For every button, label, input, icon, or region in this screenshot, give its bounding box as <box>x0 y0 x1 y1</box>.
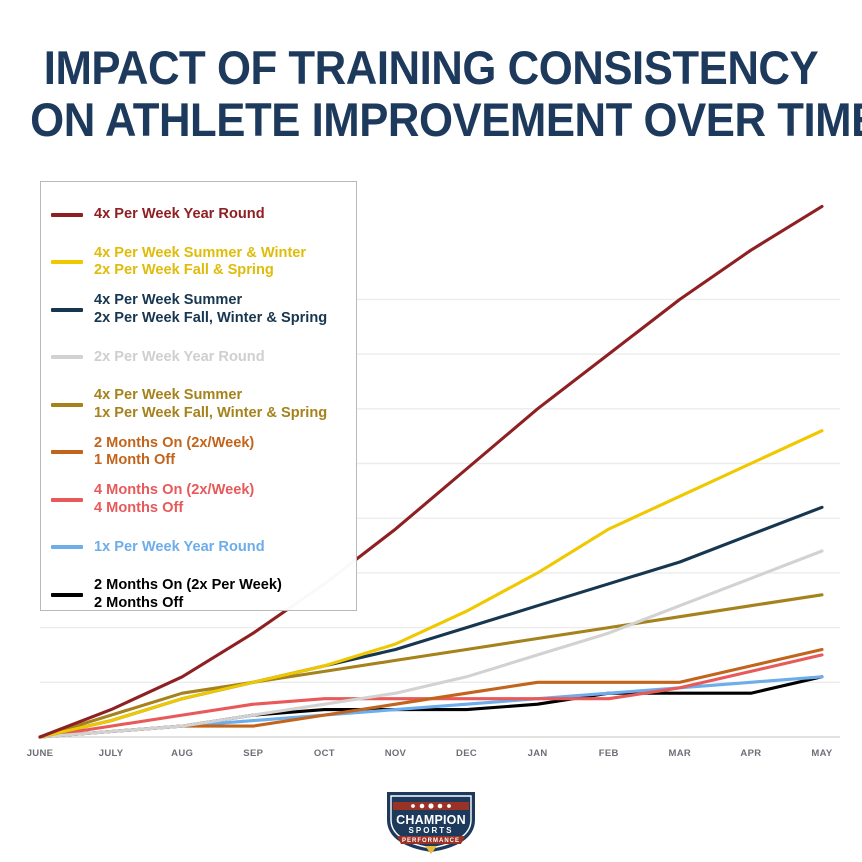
legend-item[interactable]: 4x Per Week Year Round <box>41 191 356 239</box>
x-axis-tick-label: JAN <box>528 748 548 759</box>
champion-sports-performance-logo: CHAMPION SPORTS PERFORMANCE <box>377 786 485 856</box>
legend-color-swatch <box>51 308 83 312</box>
legend-label-group: 4x Per Week Year Round <box>94 206 265 224</box>
legend-label-group: 4x Per Week Summer1x Per Week Fall, Wint… <box>94 387 327 422</box>
legend-color-swatch <box>51 355 83 359</box>
legend-color-swatch <box>51 545 83 549</box>
legend-label-line: 1x Per Week Fall, Winter & Spring <box>94 405 327 423</box>
legend-label-group: 4x Per Week Summer2x Per Week Fall, Wint… <box>94 292 327 327</box>
legend-label-line: 4 Months On (2x/Week) <box>94 482 254 500</box>
legend-item[interactable]: 4x Per Week Summer & Winter2x Per Week F… <box>41 239 356 287</box>
x-axis-tick-label: FEB <box>599 748 619 759</box>
legend-label-group: 4 Months On (2x/Week)4 Months Off <box>94 482 254 517</box>
logo-word-performance: PERFORMANCE <box>402 838 460 844</box>
x-axis-tick-label: MAY <box>811 748 832 759</box>
legend-label-group: 4x Per Week Summer & Winter2x Per Week F… <box>94 245 306 280</box>
title-line-1: IMPACT OF TRAINING CONSISTENCY <box>30 42 832 94</box>
legend-item[interactable]: 2x Per Week Year Round <box>41 334 356 382</box>
x-axis-tick-label: DEC <box>456 748 477 759</box>
x-axis-tick-label: SEP <box>243 748 263 759</box>
legend-label-line: 4x Per Week Summer <box>94 387 327 405</box>
x-axis-tick-label: JUNE <box>27 748 54 759</box>
legend-label-line: 1 Month Off <box>94 452 254 470</box>
legend-color-swatch <box>51 593 83 597</box>
legend-item[interactable]: 2 Months On (2x Per Week)2 Months Off <box>41 571 356 619</box>
legend-color-swatch <box>51 260 83 264</box>
legend-label-line: 2x Per Week Fall, Winter & Spring <box>94 310 327 328</box>
series-line <box>40 655 822 737</box>
logo-svg: CHAMPION SPORTS PERFORMANCE <box>377 786 485 856</box>
x-axis-tick-label: OCT <box>314 748 335 759</box>
legend-label-group: 2 Months On (2x Per Week)2 Months Off <box>94 577 282 612</box>
legend-label-line: 4x Per Week Year Round <box>94 206 265 224</box>
legend-label-group: 1x Per Week Year Round <box>94 539 265 557</box>
legend-item[interactable]: 2 Months On (2x/Week)1 Month Off <box>41 429 356 477</box>
legend-color-swatch <box>51 403 83 407</box>
legend-color-swatch <box>51 498 83 502</box>
legend-label-line: 2x Per Week Year Round <box>94 349 265 367</box>
legend-item[interactable]: 4 Months On (2x/Week)4 Months Off <box>41 476 356 524</box>
chart-legend[interactable]: 4x Per Week Year Round4x Per Week Summer… <box>40 181 357 611</box>
legend-item[interactable]: 1x Per Week Year Round <box>41 524 356 572</box>
x-axis-tick-label: NOV <box>385 748 407 759</box>
legend-label-line: 1x Per Week Year Round <box>94 539 265 557</box>
legend-label-line: 2 Months On (2x Per Week) <box>94 577 282 595</box>
legend-label-line: 2 Months On (2x/Week) <box>94 435 254 453</box>
legend-label-group: 2x Per Week Year Round <box>94 349 265 367</box>
legend-label-line: 2 Months Off <box>94 595 282 613</box>
legend-label-line: 4x Per Week Summer & Winter <box>94 245 306 263</box>
logo-word-champion: CHAMPION <box>396 813 466 827</box>
legend-label-line: 4 Months Off <box>94 500 254 518</box>
logo-word-sports: SPORTS <box>409 826 454 835</box>
page-title: IMPACT OF TRAINING CONSISTENCY ON ATHLET… <box>0 42 862 146</box>
title-line-2: ON ATHLETE IMPROVEMENT OVER TIME <box>30 94 832 146</box>
x-axis-tick-label: MAR <box>669 748 692 759</box>
legend-item[interactable]: 4x Per Week Summer2x Per Week Fall, Wint… <box>41 286 356 334</box>
legend-color-swatch <box>51 450 83 454</box>
x-axis-labels: JUNEJULYAUGSEPOCTNOVDECJANFEBMARAPRMAY <box>0 748 862 768</box>
legend-item[interactable]: 4x Per Week Summer1x Per Week Fall, Wint… <box>41 381 356 429</box>
legend-label-line: 2x Per Week Fall & Spring <box>94 262 306 280</box>
x-axis-tick-label: JULY <box>99 748 124 759</box>
x-axis-tick-label: AUG <box>171 748 193 759</box>
legend-label-line: 4x Per Week Summer <box>94 292 327 310</box>
x-axis-tick-label: APR <box>740 748 761 759</box>
legend-color-swatch <box>51 213 83 217</box>
infographic-root: IMPACT OF TRAINING CONSISTENCY ON ATHLET… <box>0 0 862 862</box>
legend-label-group: 2 Months On (2x/Week)1 Month Off <box>94 435 254 470</box>
